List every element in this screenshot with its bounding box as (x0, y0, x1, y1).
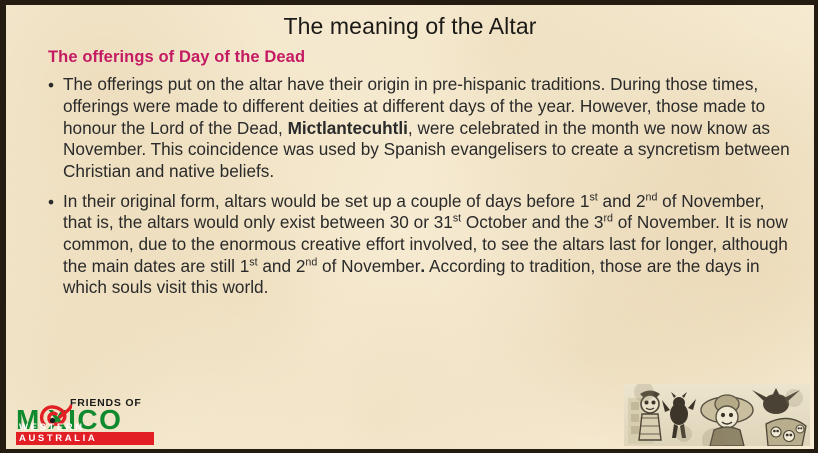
friends-of-mexico-logo: FRIENDS OF M XICO WESTERN AUSTRALIA (10, 395, 154, 447)
page-title: The meaning of the Altar (6, 5, 814, 39)
list-item: •The offerings put on the altar have the… (48, 74, 790, 182)
paragraph-2-part-4: October and the 3 (461, 212, 603, 232)
ordinal-suffix-1st: st (589, 191, 597, 203)
bullet-marker: • (48, 75, 54, 97)
ordinal-suffix-31st: st (453, 213, 461, 225)
paragraph-2-part-6: and 2 (258, 256, 306, 276)
ordinal-suffix-1st-2: st (249, 256, 257, 268)
paragraph-2-part-1: In their original form, altars would be … (63, 191, 589, 211)
body-bullet-list: •The offerings put on the altar have the… (6, 74, 814, 299)
deity-name-bold: Mictlantecuhtli (288, 118, 408, 138)
presentation-slide: The meaning of the Altar The offerings o… (0, 0, 818, 453)
section-subheading: The offerings of Day of the Dead (48, 48, 814, 67)
bullet-marker: • (48, 192, 54, 214)
paragraph-2-part-7: of November (317, 256, 420, 276)
ordinal-suffix-3rd: rd (603, 213, 612, 225)
paragraph-2-part-2: and 2 (598, 191, 646, 211)
list-item: •In their original form, altars would be… (48, 191, 790, 299)
ordinal-suffix-2nd: nd (646, 191, 658, 203)
logo-bottom-line: WESTERN AUSTRALIA (19, 422, 154, 444)
ordinal-suffix-2nd-2: nd (305, 256, 317, 268)
day-of-the-dead-illustration (624, 384, 810, 446)
